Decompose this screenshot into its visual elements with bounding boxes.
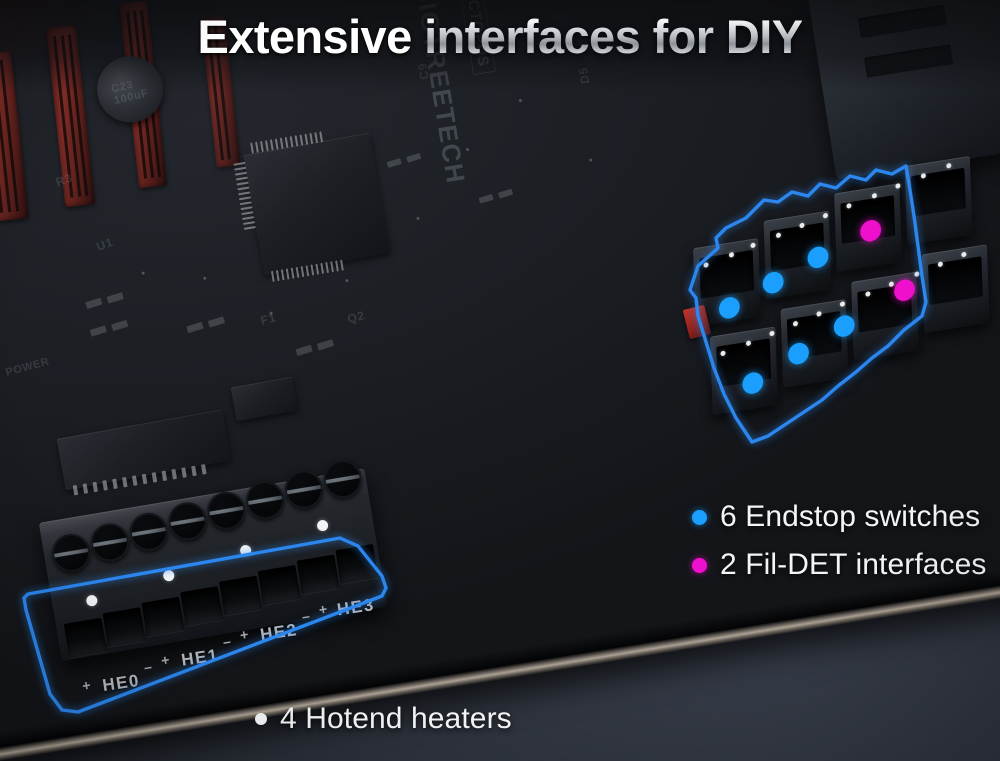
callout-fildet-label: 2 Fil-DET interfaces (720, 548, 987, 582)
small-ic (231, 377, 298, 421)
white-dot-icon (255, 713, 267, 725)
smd-pad (387, 158, 402, 168)
via (519, 99, 522, 102)
terminal-port (103, 607, 146, 647)
callout-fildet-interfaces: 2 Fil-DET interfaces (692, 548, 987, 582)
polarity-minus: – (143, 658, 153, 675)
silkscreen-ref: POWER (4, 356, 50, 379)
endstop-connector (781, 299, 849, 388)
smd-pad (406, 153, 421, 163)
smd-pad (208, 316, 225, 327)
product-feature-image: C23100uF BIGTREETECH OCTOPUS R21 C9 R3 U… (0, 0, 1000, 761)
endstop-connector (922, 244, 990, 333)
via (416, 217, 419, 220)
terminal-port (297, 555, 340, 595)
silkscreen-ref: Q2 (346, 308, 367, 326)
header-pin (914, 271, 919, 277)
endstop-connector (905, 156, 973, 245)
silkscreen-ref: U1 (95, 235, 116, 254)
via (345, 279, 348, 282)
callout-hotend-label: 4 Hotend heaters (280, 702, 512, 736)
smd-pad (90, 325, 107, 336)
terminal-label-he3: HE3 (336, 595, 376, 620)
smd-pad (479, 194, 494, 204)
terminal-port (258, 565, 301, 605)
mcu-chip (243, 133, 391, 276)
callout-endstop-switches: 6 Endstop switches (692, 500, 980, 534)
magenta-dot-icon (692, 558, 707, 573)
via (589, 158, 592, 161)
title-part-two: interfaces for DIY (424, 10, 802, 63)
header-pin (895, 183, 900, 189)
smd-pad (186, 322, 203, 333)
endstop-connector (710, 326, 778, 415)
terminal-port (64, 618, 107, 658)
smd-pad (111, 320, 128, 331)
smd-pad (85, 298, 102, 309)
terminal-port (180, 586, 223, 626)
callout-endstop-label: 6 Endstop switches (720, 500, 980, 534)
terminal-label-he0: HE0 (101, 671, 141, 696)
smd-pad (498, 189, 513, 199)
terminal-label-he1: HE1 (180, 645, 220, 670)
terminal-label-he2: HE2 (259, 620, 299, 645)
callout-hotend-heaters: 4 Hotend heaters (255, 702, 512, 736)
via (466, 148, 469, 151)
via (141, 271, 144, 274)
terminal-port (141, 597, 184, 637)
polarity-plus: + (160, 651, 171, 668)
blue-dot-icon (692, 510, 707, 525)
silkscreen-ref: F1 (259, 310, 278, 328)
page-title: Extensive interfaces for DIY (0, 9, 1000, 64)
via (203, 277, 206, 280)
terminal-port (219, 576, 262, 616)
terminal-port (335, 544, 378, 584)
title-part-one: Extensive (198, 10, 425, 63)
smd-pad (295, 345, 312, 356)
endstop-connector-bank (687, 146, 993, 465)
polarity-plus: + (81, 677, 92, 694)
polarity-minus: – (222, 633, 232, 650)
smd-pad (317, 339, 334, 350)
smd-pad (107, 292, 124, 303)
